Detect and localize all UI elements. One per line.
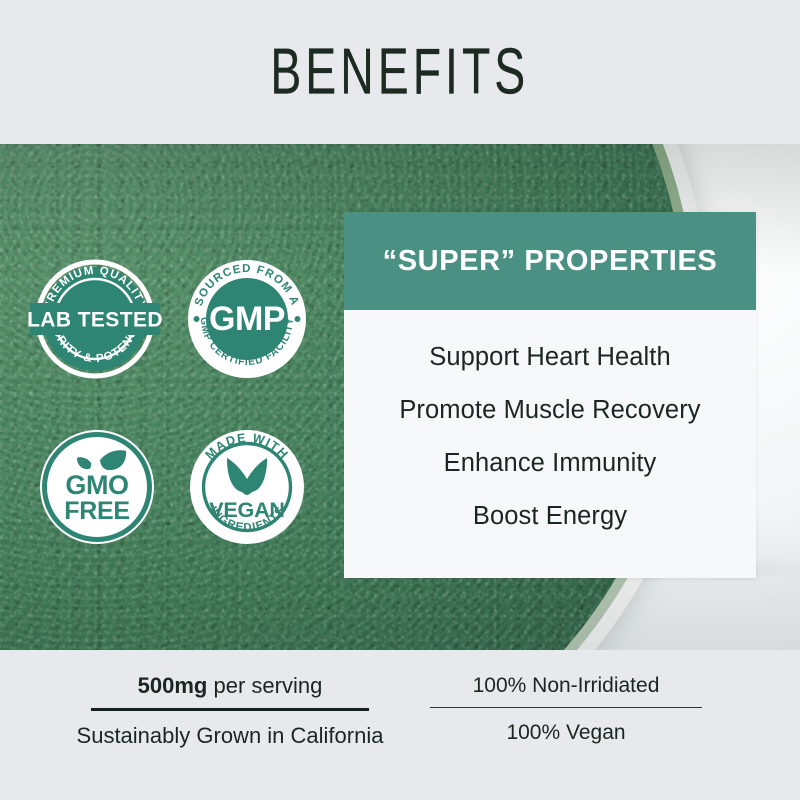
page-title: BENEFITS	[271, 40, 530, 105]
badge-lab-tested: PREMIUM QUALITY PURITY & POTENCY LAB TES…	[34, 258, 156, 380]
serving-size-suffix: per serving	[207, 673, 322, 698]
footer-divider-right	[430, 707, 702, 708]
benefit-item: Support Heart Health	[429, 332, 671, 383]
benefit-item: Promote Muscle Recovery	[399, 385, 700, 436]
benefits-infographic: BENEFITS PRE	[0, 0, 800, 800]
footer-facts: 500mg per serving Sustainably Grown in C…	[0, 650, 800, 800]
super-properties-panel: “SUPER” PROPERTIES Support Heart Health …	[344, 212, 756, 578]
panel-heading: “SUPER” PROPERTIES	[383, 245, 718, 278]
benefit-item: Boost Energy	[473, 491, 627, 542]
sourcing-line: Sustainably Grown in California	[77, 723, 384, 749]
benefit-item: Enhance Immunity	[444, 438, 657, 489]
badge-gmo-free: GMO FREE	[36, 426, 158, 548]
footer-divider-left	[91, 708, 369, 711]
serving-size-line: 500mg per serving	[138, 673, 323, 699]
gmo-free-sub: FREE	[64, 497, 129, 525]
non-irridiated-line: 100% Non-Irridiated	[473, 674, 660, 698]
benefits-list: Support Heart Health Promote Muscle Reco…	[344, 310, 756, 542]
lab-tested-label: LAB TESTED	[27, 309, 163, 332]
footer-column-left: 500mg per serving Sustainably Grown in C…	[30, 650, 430, 749]
certification-badges: PREMIUM QUALITY PURITY & POTENCY LAB TES…	[34, 258, 314, 548]
gmo-label: GMO	[65, 470, 128, 500]
footer-column-right: 100% Non-Irridiated 100% Vegan	[416, 650, 716, 745]
badge-vegan: MADE WITH INGREDIENTS VEGAN	[186, 426, 308, 548]
gmp-dot-right	[295, 316, 301, 322]
panel-header-band: “SUPER” PROPERTIES	[344, 212, 756, 310]
serving-size-amount: 500mg	[138, 673, 208, 698]
vegan-line: 100% Vegan	[506, 721, 625, 745]
vegan-label: VEGAN	[209, 498, 284, 522]
gmp-dot-left	[194, 316, 200, 322]
header-bar: BENEFITS	[0, 0, 800, 144]
badge-gmp: SOURCED FROM A GMP CERTIFIED FACILITY GM…	[186, 258, 308, 380]
gmp-label: GMP	[209, 300, 285, 338]
